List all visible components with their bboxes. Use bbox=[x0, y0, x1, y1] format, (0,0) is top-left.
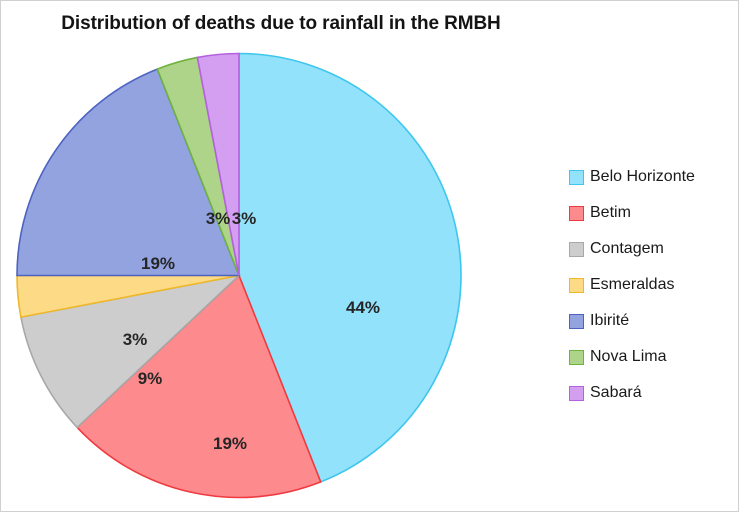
legend-item-nova-lima[interactable]: Nova Lima bbox=[569, 339, 734, 375]
legend-item-label: Ibirité bbox=[590, 312, 629, 330]
chart-legend: Belo HorizonteBetimContagemEsmeraldasIbi… bbox=[569, 159, 734, 411]
pie-chart-figure: Distribution of deaths due to rainfall i… bbox=[0, 0, 739, 512]
legend-swatch-icon bbox=[569, 278, 584, 293]
legend-item-contagem[interactable]: Contagem bbox=[569, 231, 734, 267]
chart-title: Distribution of deaths due to rainfall i… bbox=[1, 13, 561, 35]
legend-swatch-icon bbox=[569, 242, 584, 257]
legend-swatch-icon bbox=[569, 386, 584, 401]
legend-item-label: Betim bbox=[590, 204, 631, 222]
legend-item-esmeraldas[interactable]: Esmeraldas bbox=[569, 267, 734, 303]
pie-plot-area: 44%19%9%3%19%3%3% bbox=[15, 52, 463, 500]
legend-swatch-icon bbox=[569, 350, 584, 365]
legend-item-label: Sabará bbox=[590, 384, 642, 402]
pie-svg bbox=[15, 52, 463, 500]
legend-item-ibirit-[interactable]: Ibirité bbox=[569, 303, 734, 339]
legend-swatch-icon bbox=[569, 206, 584, 221]
legend-swatch-icon bbox=[569, 170, 584, 185]
legend-swatch-icon bbox=[569, 314, 584, 329]
legend-item-betim[interactable]: Betim bbox=[569, 195, 734, 231]
legend-item-belo-horizonte[interactable]: Belo Horizonte bbox=[569, 159, 734, 195]
legend-item-label: Esmeraldas bbox=[590, 276, 674, 294]
legend-item-sabar-[interactable]: Sabará bbox=[569, 375, 734, 411]
pie-slice-group bbox=[17, 54, 461, 498]
legend-item-label: Nova Lima bbox=[590, 348, 666, 366]
legend-item-label: Contagem bbox=[590, 240, 664, 258]
legend-item-label: Belo Horizonte bbox=[590, 168, 695, 186]
